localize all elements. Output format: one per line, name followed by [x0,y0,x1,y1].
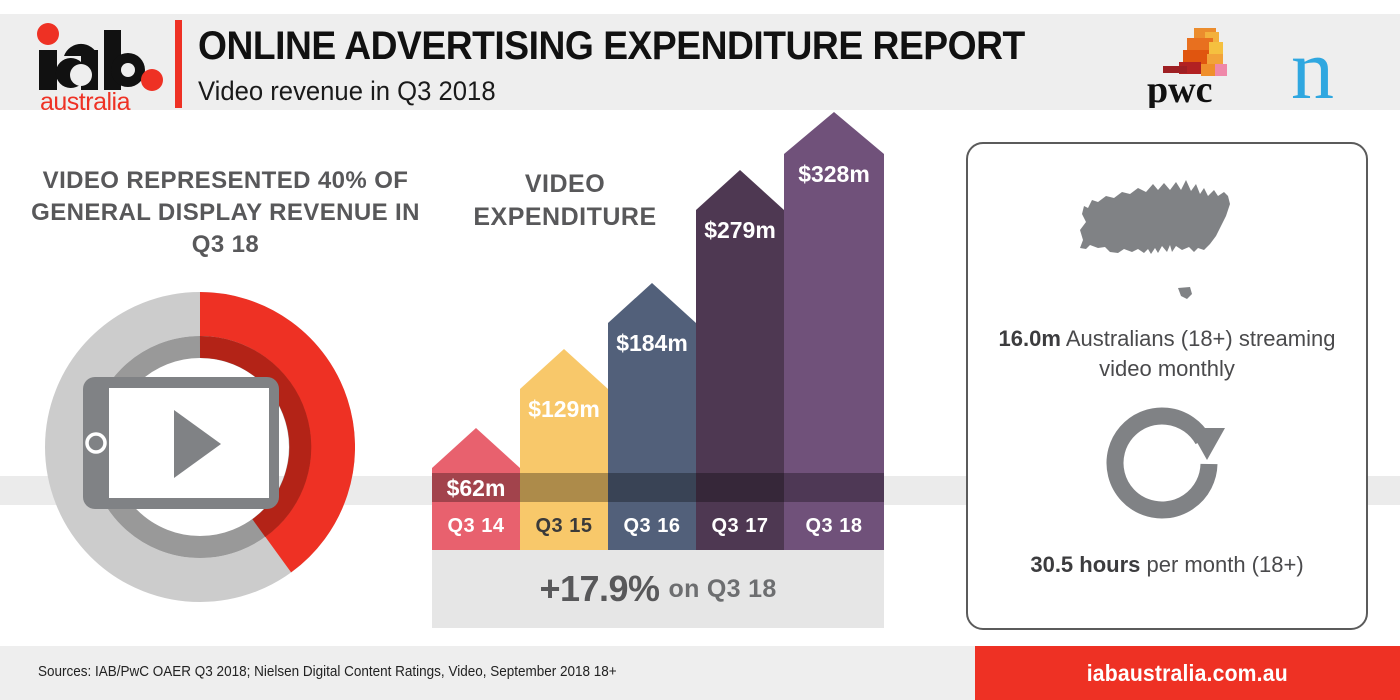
stat2-text: per month (18+) [1140,552,1303,577]
bar-shape [608,283,696,502]
bar-category-label: Q3 16 [608,502,696,550]
bar-category-label: Q3 17 [696,502,784,550]
audience-stats-panel: 16.0m Australians (18+) streaming video … [966,142,1368,630]
footer-sources: Sources: IAB/PwC OAER Q3 2018; Nielsen D… [38,663,617,680]
clock-arrow-icon [1093,402,1238,537]
hours-per-month-stat: 30.5 hours per month (18+) [986,552,1348,578]
page-title: ONLINE ADVERTISING EXPENDITURE REPORT [198,24,1025,69]
header-red-divider [175,20,182,108]
svg-text:australia: australia [40,88,131,114]
svg-text:n: n [1291,28,1334,106]
australia-map-icon [1058,166,1273,314]
stat1-text: Australians (18+) streaming video monthl… [1061,326,1336,381]
bar-category-label: Q3 18 [784,502,884,550]
iab-australia-logo: australia [32,18,172,114]
footer-url-label: iabaustralia.com.au [1087,660,1288,687]
bar-column: $184mQ3 16 [608,283,696,550]
stat1-value: 16.0m [999,326,1061,351]
bar-shadow-band [696,473,784,502]
bar-shadow-band [784,473,884,502]
bar-column: $129mQ3 15 [520,349,608,550]
bar-value-label: $184m [608,330,696,357]
bar-column: $279mQ3 17 [696,170,784,550]
bar-category-label: Q3 14 [432,502,520,550]
bar-value-label: $328m [784,161,884,188]
svg-text:pwc: pwc [1147,69,1212,108]
pwc-logo: pwc [1145,22,1255,108]
bar-column: $62mQ3 14 [432,428,520,550]
streaming-audience-stat: 16.0m Australians (18+) streaming video … [992,324,1342,384]
footer-url-box[interactable]: iabaustralia.com.au [975,646,1400,700]
video-expenditure-bar-chart: $62mQ3 14$129mQ3 15$184mQ3 16$279mQ3 17$… [432,100,884,550]
bar-value-label: $129m [520,396,608,423]
growth-annotation-box: +17.9% on Q3 18 [432,550,884,628]
bar-shadow-band [608,473,696,502]
growth-value: +17.9% [539,568,659,610]
left-headline: VIDEO REPRESENTED 40% OF GENERAL DISPLAY… [28,165,423,261]
video-play-tablet-icon [83,377,279,509]
bar-category-label: Q3 15 [520,502,608,550]
growth-suffix: on Q3 18 [669,575,777,604]
video-share-donut-chart [45,292,355,602]
bar-column: $328mQ3 18 [784,112,884,550]
stat2-value: 30.5 hours [1030,552,1140,577]
bar-shadow-band [520,473,608,502]
bar-value-label: $62m [432,475,520,502]
nielsen-logo: n [1283,28,1369,106]
bar-value-label: $279m [696,217,784,244]
